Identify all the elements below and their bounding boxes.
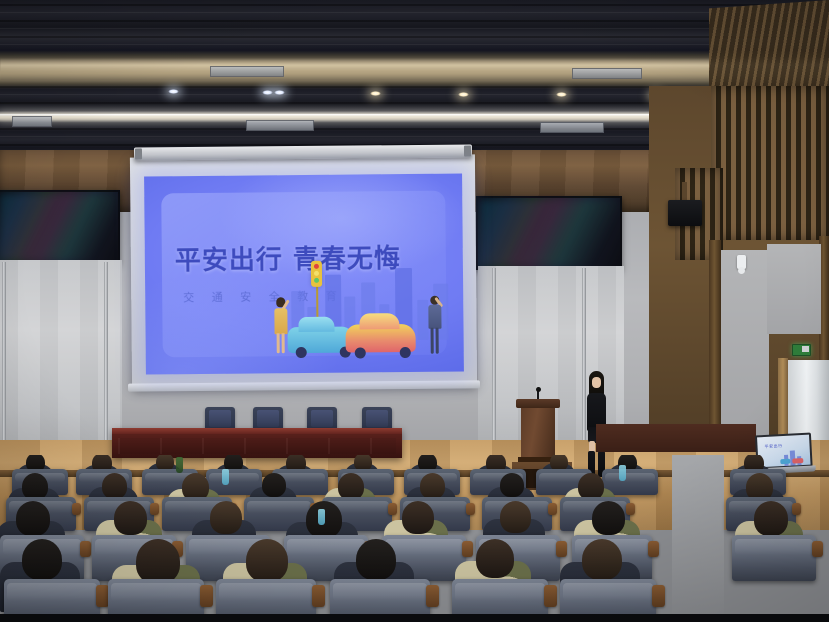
podium-body <box>521 408 555 458</box>
seat-armrest <box>648 541 659 557</box>
led-display-panel-left <box>0 190 120 264</box>
audience-person-head <box>582 539 622 580</box>
seat-armrest <box>548 503 557 515</box>
warm-light-band <box>0 58 829 80</box>
audience-person-head <box>246 539 288 582</box>
audience-person-head <box>578 473 604 500</box>
stage-chair <box>253 407 283 429</box>
audience-person-head <box>500 501 531 533</box>
audience-area <box>0 455 829 622</box>
seat-armrest <box>80 541 91 557</box>
wood-post <box>709 240 721 440</box>
curtain-post <box>104 262 108 458</box>
audience-person-head <box>338 473 364 500</box>
seat-armrest <box>72 503 81 515</box>
water-bottle <box>619 465 626 481</box>
podium <box>518 399 558 462</box>
stage-chair <box>362 407 392 429</box>
ceiling-downlight <box>370 91 381 96</box>
audience-person-head <box>356 539 396 580</box>
ceiling-vent <box>572 68 642 79</box>
ceiling-downlight <box>556 92 567 97</box>
wood-slat-screen-upper <box>711 86 829 240</box>
exit-sign-icon <box>792 344 811 356</box>
stage-chair <box>205 407 235 429</box>
floor-shadow <box>0 614 829 622</box>
wall-panel-right <box>721 250 769 440</box>
water-bottle <box>222 469 229 485</box>
audience-person-head <box>102 473 127 499</box>
ceiling-vent <box>246 120 314 131</box>
audience-person-head <box>754 501 788 536</box>
person-leg <box>282 333 285 353</box>
stage-chair <box>307 407 337 429</box>
seat-armrest <box>312 585 325 607</box>
laptop-screen-title: 平安出行 <box>764 443 782 450</box>
car-wheel <box>296 347 307 358</box>
led-display-panel-right <box>476 196 622 270</box>
car-wheel <box>400 347 411 358</box>
person-body <box>428 305 441 329</box>
seat-armrest <box>388 503 397 515</box>
seat-armrest <box>466 503 475 515</box>
traffic-light-icon <box>311 261 322 287</box>
audience-person-head <box>262 473 286 497</box>
presentation-slide: 平安出行 青春无悔 交 通 安 全 教 育 <box>144 173 464 374</box>
wall-panel-right-outer <box>767 244 821 334</box>
audience-person-head <box>592 501 625 535</box>
audience-person-head <box>420 473 445 499</box>
seat-armrest <box>462 541 473 557</box>
illustration-person-man <box>425 294 448 356</box>
seat-armrest <box>792 503 801 515</box>
ceiling-vent <box>540 122 604 133</box>
ceiling-downlight <box>168 89 179 94</box>
stage-side-table <box>596 424 756 452</box>
water-bottle <box>318 509 325 525</box>
presenter-face <box>592 377 601 388</box>
curtain-post <box>492 268 496 456</box>
ceiling-downlight <box>262 90 273 95</box>
speaker-bracket <box>682 182 687 202</box>
audience-person-head <box>402 501 434 534</box>
wall-speaker <box>668 200 702 226</box>
seat-armrest <box>426 585 439 607</box>
seat-armrest <box>556 541 567 557</box>
audience-person-head <box>500 473 524 497</box>
stage-conference-table <box>112 428 402 458</box>
audience-person-head <box>16 501 50 536</box>
car-wheel <box>355 347 366 358</box>
person-body <box>274 308 287 334</box>
seat-armrest <box>200 585 213 607</box>
water-bottle <box>176 457 183 473</box>
security-camera-icon <box>737 255 746 269</box>
audience-person-head <box>114 501 147 535</box>
podium-top <box>516 399 560 408</box>
audience-person-head <box>136 539 180 584</box>
seat-armrest <box>812 541 823 557</box>
audience-person-head <box>476 539 514 578</box>
auditorium-scene: 平安出行 青春无悔 交 通 安 全 教 育 <box>0 0 829 622</box>
seat-armrest <box>626 503 635 515</box>
audience-person-head <box>22 473 48 500</box>
ceiling-vent <box>12 116 52 127</box>
aisle <box>672 455 724 622</box>
audience-person-head <box>210 501 242 534</box>
person-leg <box>436 328 439 354</box>
ceiling-downlight <box>458 92 469 97</box>
audience-person-head <box>22 539 62 580</box>
audience-seat[interactable] <box>732 535 816 581</box>
slide-illustration <box>269 244 460 366</box>
ceiling-vent <box>210 66 284 77</box>
person-leg <box>431 328 434 354</box>
seat-armrest <box>652 585 665 607</box>
person-leg <box>277 333 280 353</box>
seat-armrest <box>544 585 557 607</box>
seat-armrest <box>150 503 159 515</box>
curtain-post <box>2 262 6 458</box>
ceiling-downlight <box>274 90 285 95</box>
